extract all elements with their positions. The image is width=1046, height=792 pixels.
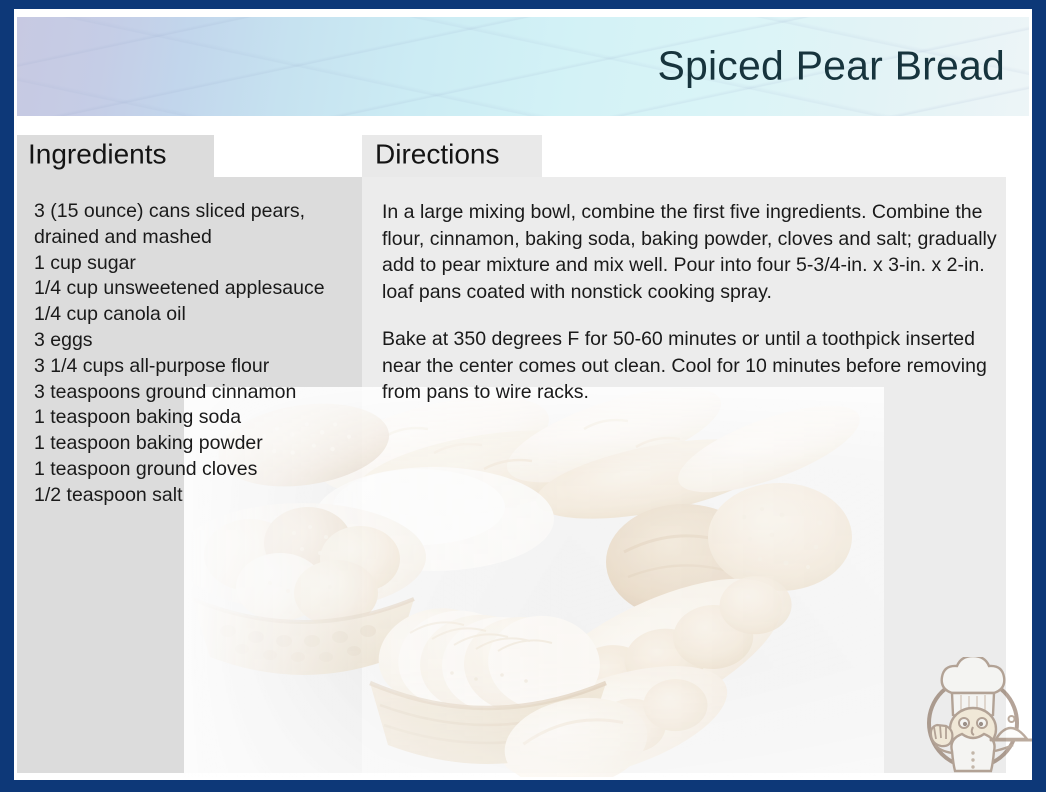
list-item: 1 cup sugar bbox=[34, 251, 364, 277]
list-item: 1/4 cup canola oil bbox=[34, 302, 364, 328]
directions-heading: Directions bbox=[375, 139, 499, 170]
ingredients-list: 3 (15 ounce) cans sliced pears, drained … bbox=[34, 199, 364, 509]
list-item: 1 teaspoon baking soda bbox=[34, 405, 364, 431]
list-item: 1 teaspoon baking powder bbox=[34, 431, 364, 457]
list-item: 3 1/4 cups all-purpose flour bbox=[34, 354, 364, 380]
tab-directions[interactable]: Directions bbox=[362, 135, 542, 177]
ingredients-heading: Ingredients bbox=[28, 139, 167, 170]
title-banner: Spiced Pear Bread bbox=[17, 17, 1029, 116]
slide-content-area: Spiced Pear Bread bbox=[14, 9, 1032, 780]
list-item: 3 (15 ounce) cans sliced pears, drained … bbox=[34, 199, 364, 251]
list-item: 1 teaspoon ground cloves bbox=[34, 457, 364, 483]
list-item: 1/2 teaspoon salt bbox=[34, 483, 364, 509]
page-title: Spiced Pear Bread bbox=[657, 44, 1005, 87]
list-item: 3 eggs bbox=[34, 328, 364, 354]
directions-paragraph: Bake at 350 degrees F for 50-60 minutes … bbox=[382, 326, 1016, 406]
directions-paragraph: In a large mixing bowl, combine the firs… bbox=[382, 199, 1016, 305]
tab-ingredients[interactable]: Ingredients bbox=[17, 135, 214, 177]
directions-body: In a large mixing bowl, combine the firs… bbox=[382, 199, 1016, 406]
recipe-slide: Spiced Pear Bread bbox=[0, 0, 1046, 792]
list-item: 1/4 cup unsweetened applesauce bbox=[34, 276, 364, 302]
list-item: 3 teaspoons ground cinnamon bbox=[34, 380, 364, 406]
